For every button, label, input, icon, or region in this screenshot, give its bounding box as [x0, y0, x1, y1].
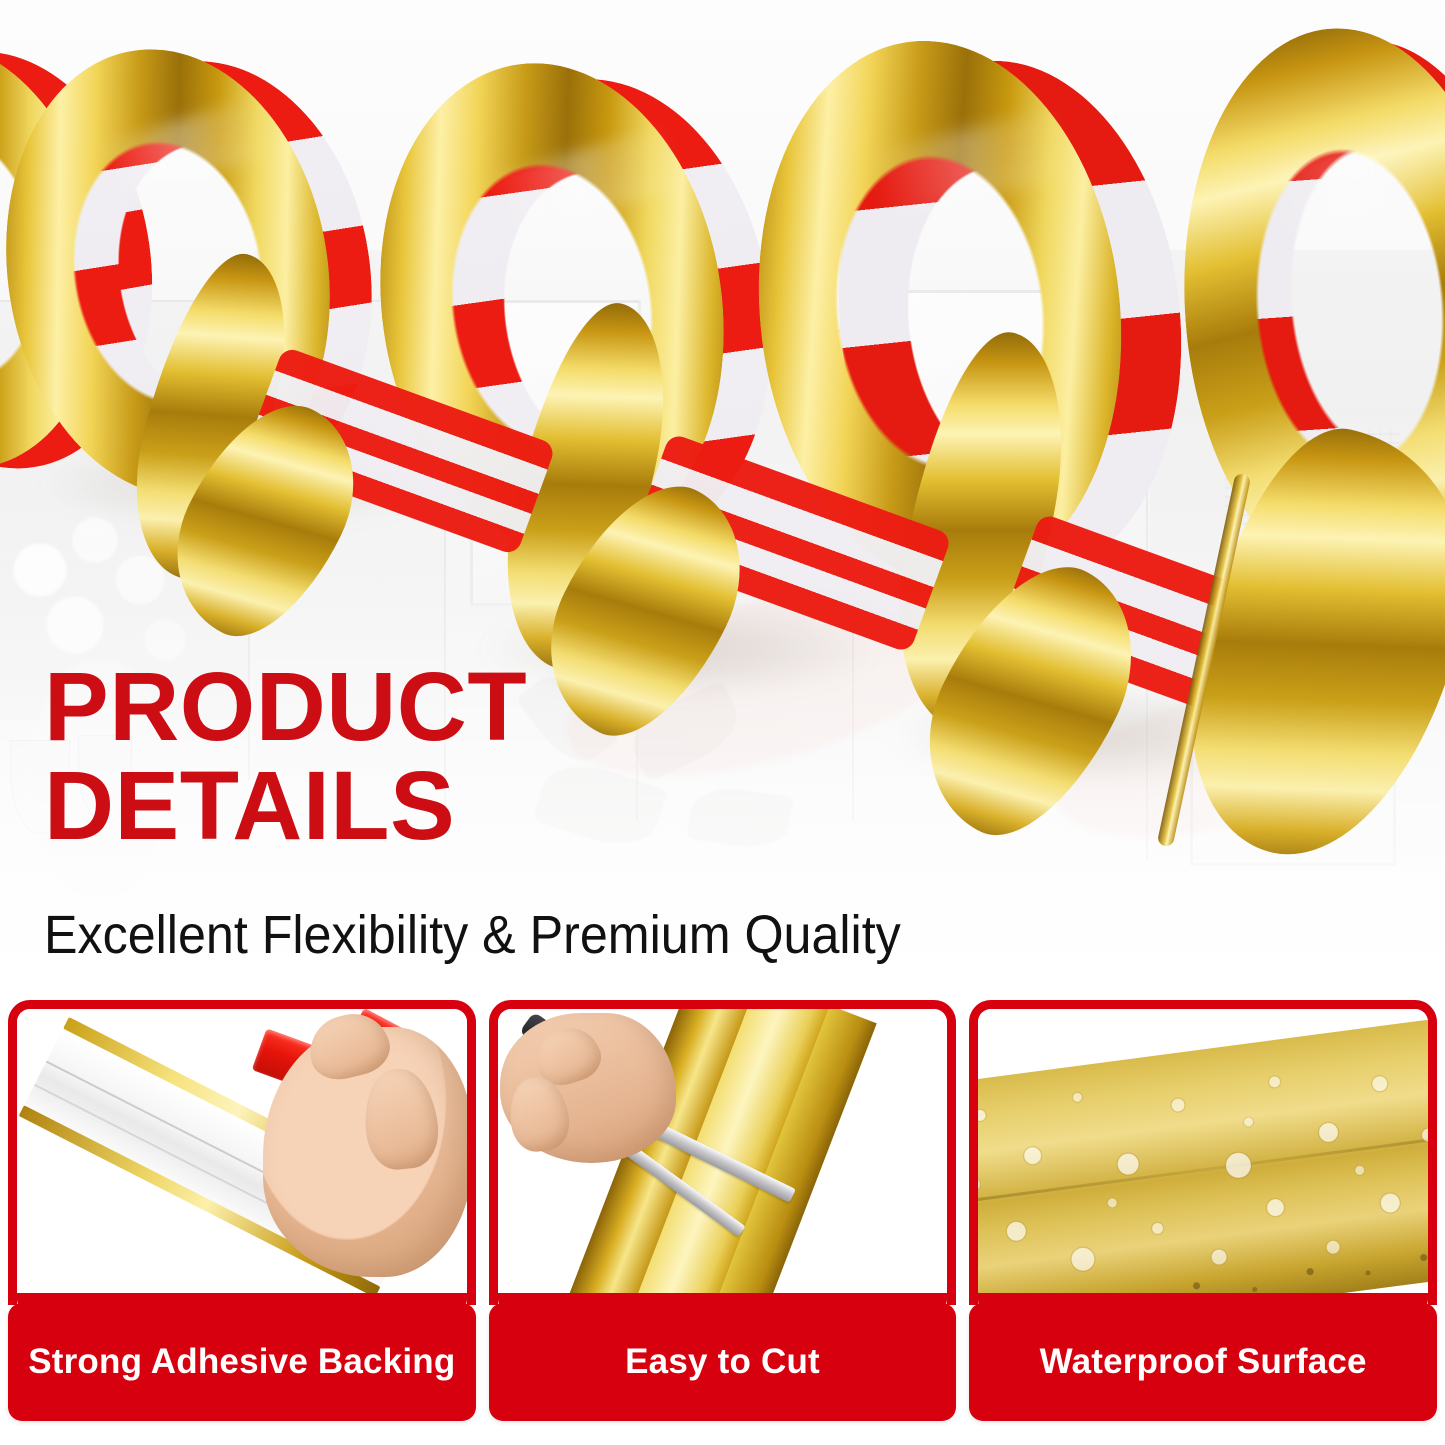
headline-line-1: PRODUCT — [44, 660, 527, 753]
subtitle: Excellent Flexibility & Premium Quality — [44, 906, 901, 964]
feature-panels: Strong Adhesive Backing — [0, 1000, 1445, 1445]
panel-caption-text: Easy to Cut — [625, 1342, 820, 1382]
photo-frame — [489, 1000, 957, 1305]
caption-notch — [978, 1293, 1428, 1311]
caption-notch — [17, 1293, 467, 1311]
feature-panel-adhesive[interactable]: Strong Adhesive Backing — [8, 1000, 476, 1445]
scissors — [506, 1023, 796, 1253]
headline: PRODUCT DETAILS — [44, 660, 527, 852]
panel-caption-text: Strong Adhesive Backing — [28, 1342, 455, 1382]
photo-frame — [969, 1000, 1437, 1305]
headline-line-2: DETAILS — [44, 759, 527, 852]
panel-caption-text: Waterproof Surface — [1040, 1342, 1367, 1382]
feature-panel-cut[interactable]: Easy to Cut — [489, 1000, 957, 1445]
feature-panel-waterproof[interactable]: Waterproof Surface — [969, 1000, 1437, 1445]
panel-caption: Easy to Cut — [489, 1303, 957, 1421]
panel-caption: Strong Adhesive Backing — [8, 1303, 476, 1421]
photo-waterproof-surface — [978, 1009, 1428, 1305]
infographic-canvas: PRODUCT DETAILS Excellent Flexibility & … — [0, 0, 1445, 1445]
caption-notch — [498, 1293, 948, 1311]
panel-caption: Waterproof Surface — [969, 1303, 1437, 1421]
gold-surface — [978, 1016, 1428, 1305]
photo-easy-to-cut — [498, 1009, 948, 1305]
photo-frame — [8, 1000, 476, 1305]
photo-adhesive-backing — [17, 1009, 467, 1305]
